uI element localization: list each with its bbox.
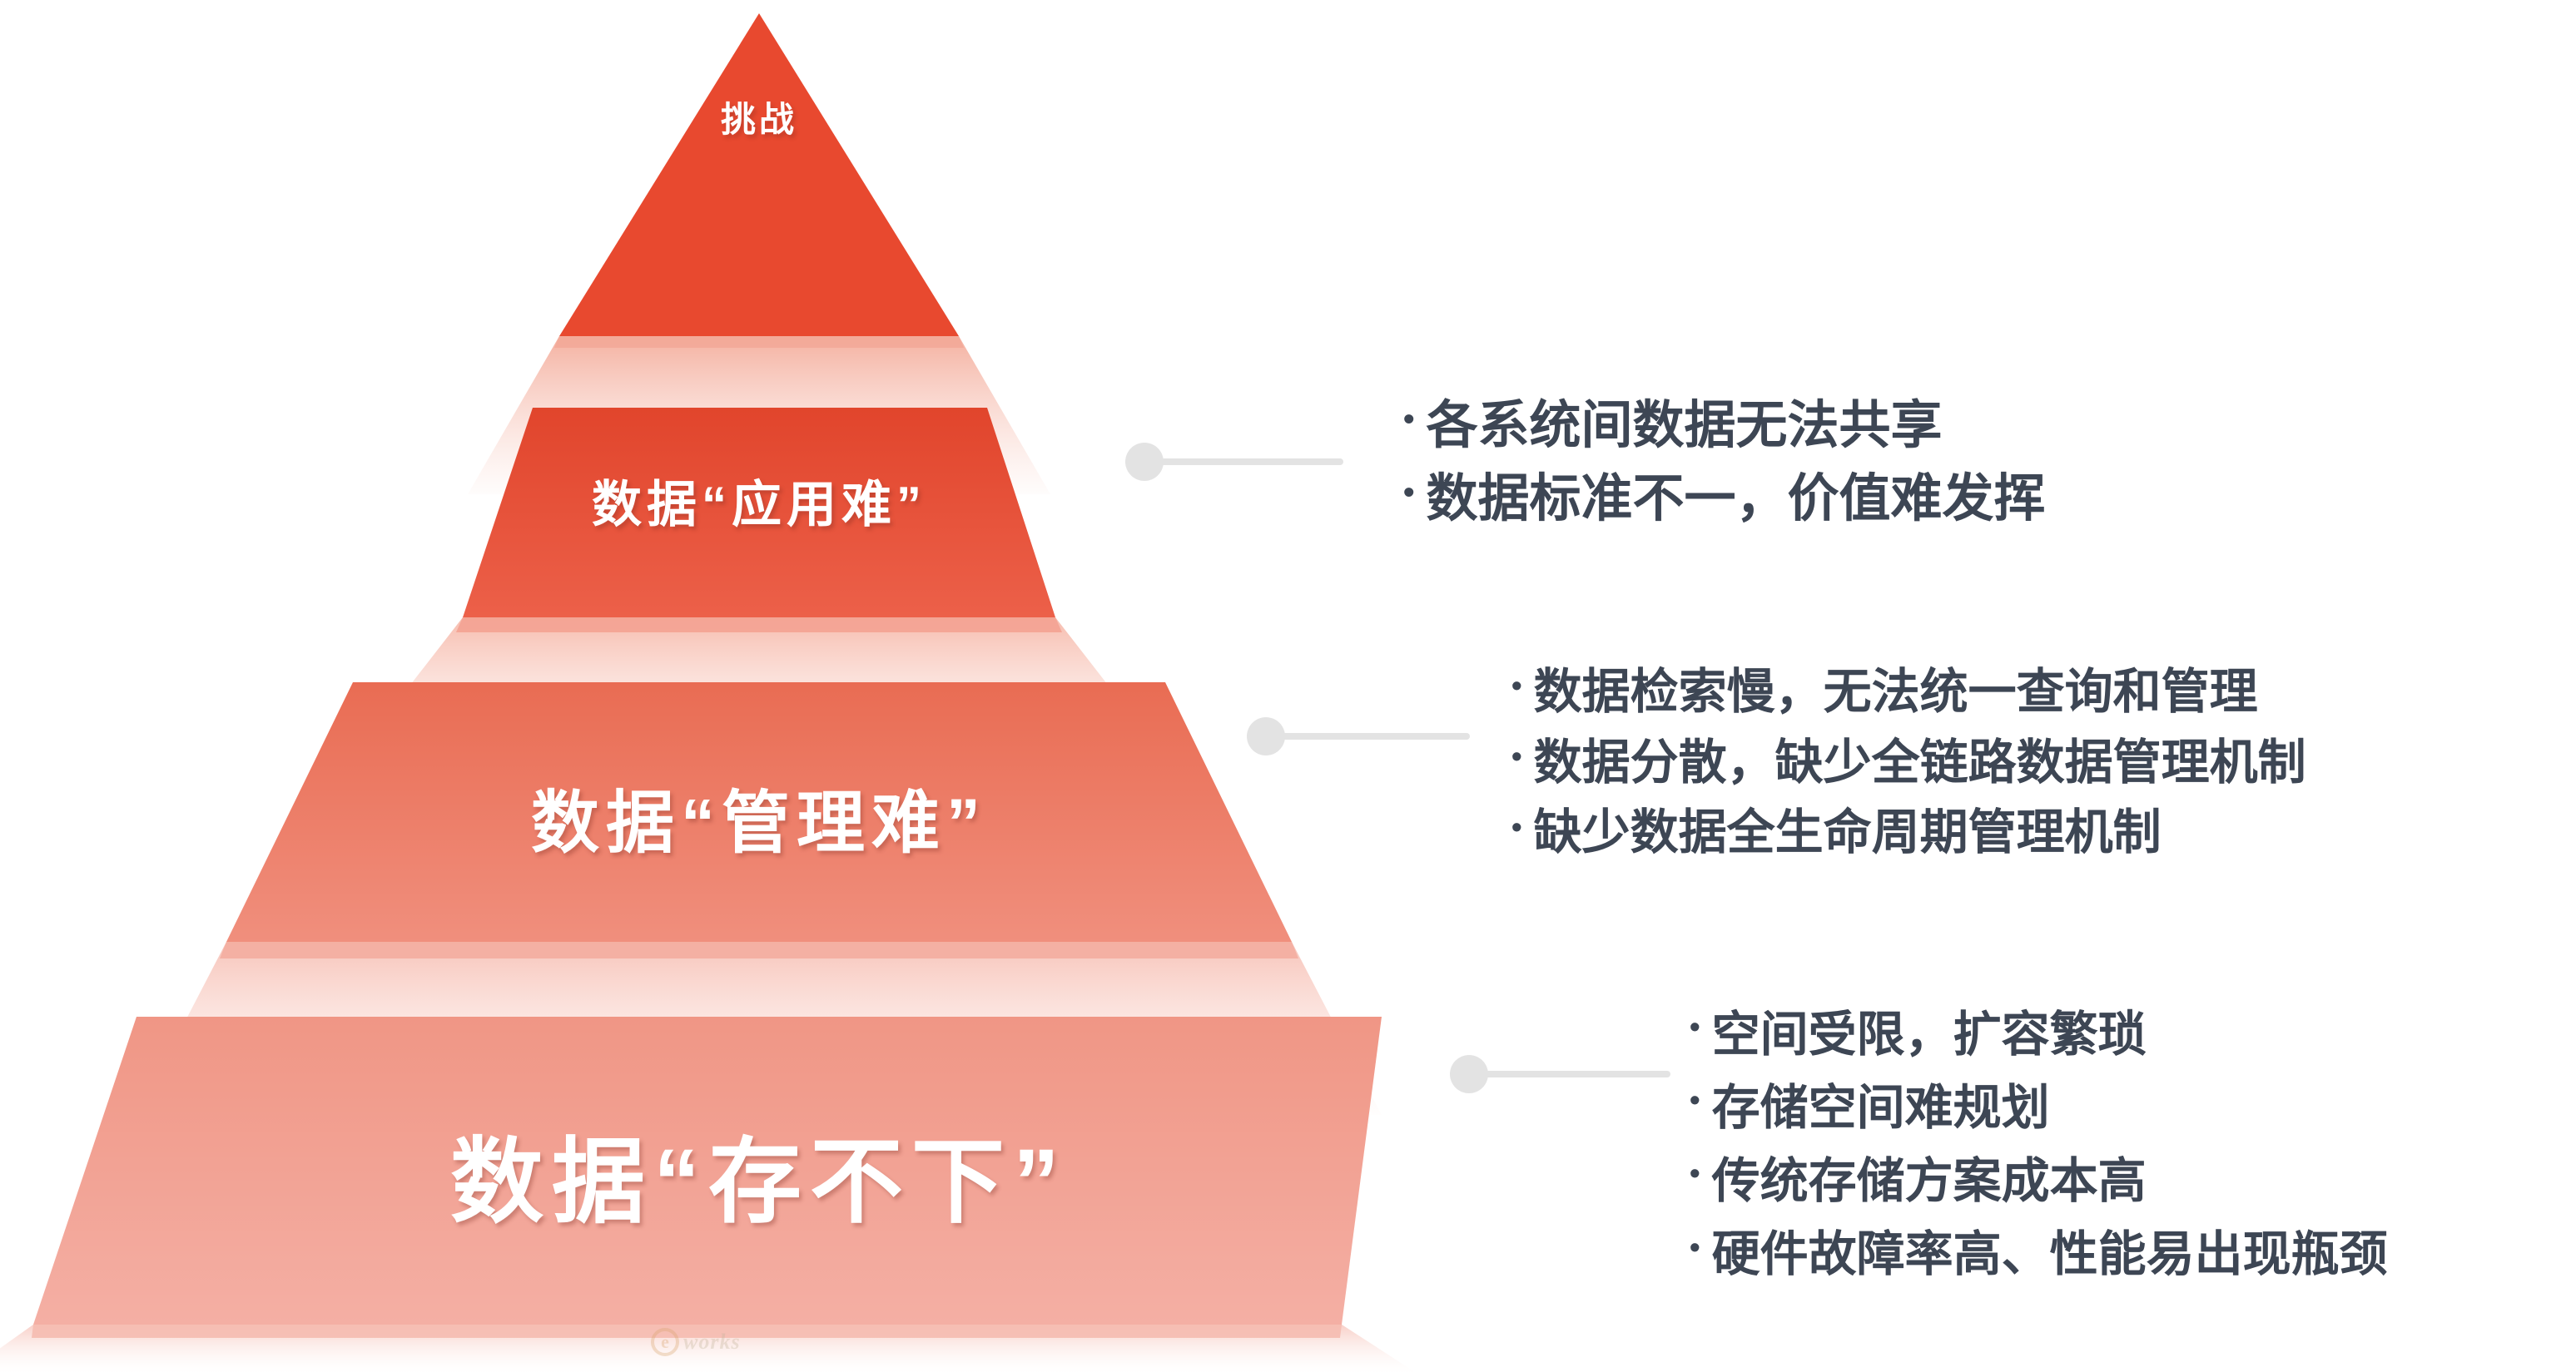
- bullet-item: • 数据标准不一，价值难发挥: [1403, 463, 2045, 536]
- pyramid-shapes: [0, 0, 1415, 1372]
- tier-management-face: [226, 682, 1292, 942]
- connector-management: [1247, 717, 1476, 755]
- bullet-text: 缺少数据全生命周期管理机制: [1534, 798, 2162, 869]
- connector-storage-line: [1483, 1071, 1670, 1077]
- bullet-marker-icon: •: [1511, 812, 1522, 842]
- bullet-marker-icon: •: [1511, 671, 1522, 701]
- bullet-marker-icon: •: [1403, 477, 1414, 508]
- bullet-item: • 存储空间难规划: [1690, 1072, 2388, 1145]
- tier-storage-face: [33, 1017, 1382, 1325]
- connector-application-line: [1159, 458, 1343, 465]
- pyramid-svg: [0, 0, 1415, 1372]
- bullet-item: • 缺少数据全生命周期管理机制: [1511, 798, 2306, 869]
- bullet-text: 传统存储方案成本高: [1712, 1145, 2147, 1218]
- bullet-text: 数据检索慢，无法统一查询和管理: [1534, 657, 2258, 728]
- bullet-marker-icon: •: [1511, 741, 1522, 771]
- diagram-canvas: 挑战 数据“应用难” 数据“管理难” 数据“存不下” • 各系统间数据无法共享 …: [0, 0, 2576, 1372]
- bullet-text: 数据标准不一，价值难发挥: [1426, 463, 2045, 536]
- bullet-marker-icon: •: [1690, 1232, 1700, 1262]
- bullet-text: 存储空间难规划: [1712, 1072, 2050, 1145]
- bullet-marker-icon: •: [1690, 1085, 1700, 1115]
- bullet-item: • 各系统间数据无法共享: [1403, 389, 2045, 463]
- bullet-marker-icon: •: [1690, 1012, 1700, 1042]
- bullet-text: 各系统间数据无法共享: [1426, 389, 1942, 463]
- connector-management-line: [1280, 733, 1470, 740]
- pyramid-graphic: 挑战 数据“应用难” 数据“管理难” 数据“存不下”: [0, 0, 1415, 1372]
- bullet-item: • 硬件故障率高、性能易出现瓶颈: [1690, 1218, 2388, 1291]
- connector-application: [1125, 443, 1350, 481]
- bullet-text: 硬件故障率高、性能易出现瓶颈: [1712, 1218, 2388, 1291]
- tier-management-edge: [220, 942, 1298, 958]
- bullet-item: • 数据分散，缺少全链路数据管理机制: [1511, 728, 2306, 799]
- apex-face: [559, 13, 959, 336]
- bullet-item: • 数据检索慢，无法统一查询和管理: [1511, 657, 2306, 728]
- bullet-marker-icon: •: [1403, 404, 1414, 435]
- bullet-text: 数据分散，缺少全链路数据管理机制: [1534, 728, 2306, 799]
- bullet-item: • 传统存储方案成本高: [1690, 1145, 2388, 1218]
- tier-application-edge: [456, 617, 1062, 632]
- bullets-tier-storage: • 空间受限，扩容繁琐 • 存储空间难规划 • 传统存储方案成本高 • 硬件故障…: [1690, 998, 2388, 1292]
- tier-application-face: [463, 408, 1055, 617]
- bullet-marker-icon: •: [1690, 1158, 1700, 1188]
- bullets-tier-application: • 各系统间数据无法共享 • 数据标准不一，价值难发挥: [1403, 389, 2045, 536]
- bullet-text: 空间受限，扩容繁琐: [1712, 998, 2147, 1072]
- tier-storage-edge: [32, 1325, 1342, 1338]
- bullet-item: • 空间受限，扩容繁琐: [1690, 998, 2388, 1072]
- apex-edge: [554, 336, 964, 348]
- connector-storage: [1450, 1055, 1676, 1093]
- bullets-tier-management: • 数据检索慢，无法统一查询和管理 • 数据分散，缺少全链路数据管理机制 • 缺…: [1511, 657, 2306, 869]
